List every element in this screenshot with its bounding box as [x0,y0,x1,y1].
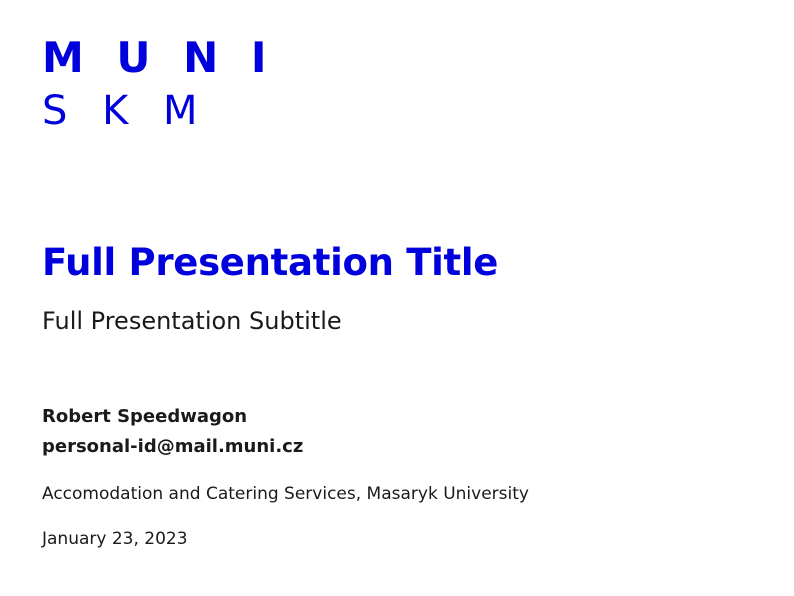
author-email: personal-id@mail.muni.cz [42,435,303,459]
logo-skm-wordmark: S K M [42,90,342,132]
page-title: Full Presentation Title [42,241,498,285]
title-slide: M U N I S K M Full Presentation Title Fu… [0,0,794,596]
presentation-date: January 23, 2023 [42,528,188,551]
muni-skm-logo: M U N I S K M [42,36,342,132]
page-subtitle: Full Presentation Subtitle [42,306,342,336]
logo-muni-wordmark: M U N I [42,36,342,80]
affiliation-text: Accomodation and Catering Services, Masa… [42,483,529,506]
author-name: Robert Speedwagon [42,405,247,429]
